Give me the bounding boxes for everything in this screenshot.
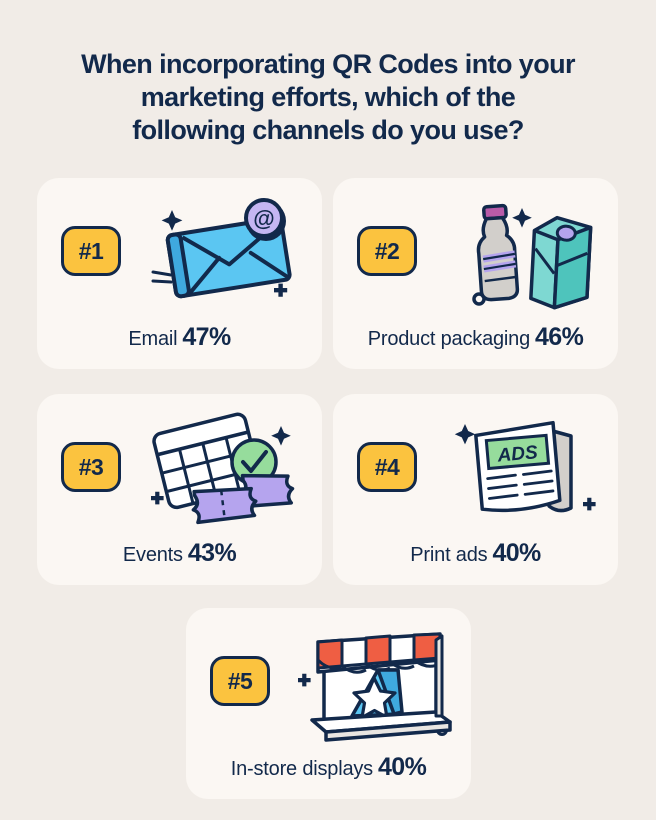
channel-percent: 46%	[535, 323, 583, 351]
stat-card-email: #1	[37, 178, 322, 369]
rank-badge: #3	[61, 442, 121, 492]
channel-percent: 40%	[492, 539, 540, 567]
rank-badge: #2	[357, 226, 417, 276]
calendar-tickets-icon	[141, 412, 311, 530]
newspaper-headline-text: ADS	[496, 442, 539, 467]
channel-label: Print ads	[410, 544, 487, 566]
newspaper-ads-icon: ADS	[437, 412, 607, 530]
card-caption: In-store displays40%	[186, 755, 471, 780]
channel-label: In-store displays	[231, 758, 373, 780]
page-title-line-1: When incorporating QR Codes into your	[48, 48, 608, 81]
bottle-carton-icon	[437, 196, 607, 314]
stat-card-in-store-displays: #5	[186, 608, 471, 799]
channel-label: Product packaging	[368, 328, 530, 350]
channel-percent: 47%	[182, 323, 230, 351]
channel-percent: 43%	[188, 539, 236, 567]
rank-badge: #1	[61, 226, 121, 276]
page-title: When incorporating QR Codes into your ma…	[48, 48, 608, 148]
stat-card-product-packaging: #2	[333, 178, 618, 369]
card-caption: Events43%	[37, 541, 322, 566]
rank-badge: #5	[210, 656, 270, 706]
svg-text:@: @	[253, 206, 274, 231]
stat-card-events: #3	[37, 394, 322, 585]
rank-badge: #4	[357, 442, 417, 492]
card-caption: Email47%	[37, 325, 322, 350]
card-caption: Product packaging46%	[333, 325, 618, 350]
channel-label: Events	[123, 544, 183, 566]
stat-card-print-ads: #4 ADS	[333, 394, 618, 585]
channel-percent: 40%	[378, 753, 426, 781]
infographic-page: When incorporating QR Codes into your ma…	[0, 0, 656, 820]
envelope-at-icon: @	[141, 196, 311, 314]
card-caption: Print ads40%	[333, 541, 618, 566]
channel-label: Email	[128, 328, 177, 350]
storefront-display-icon	[290, 626, 460, 744]
page-title-line-3: following channels do you use?	[48, 114, 608, 147]
page-title-line-2: marketing efforts, which of the	[48, 81, 608, 114]
